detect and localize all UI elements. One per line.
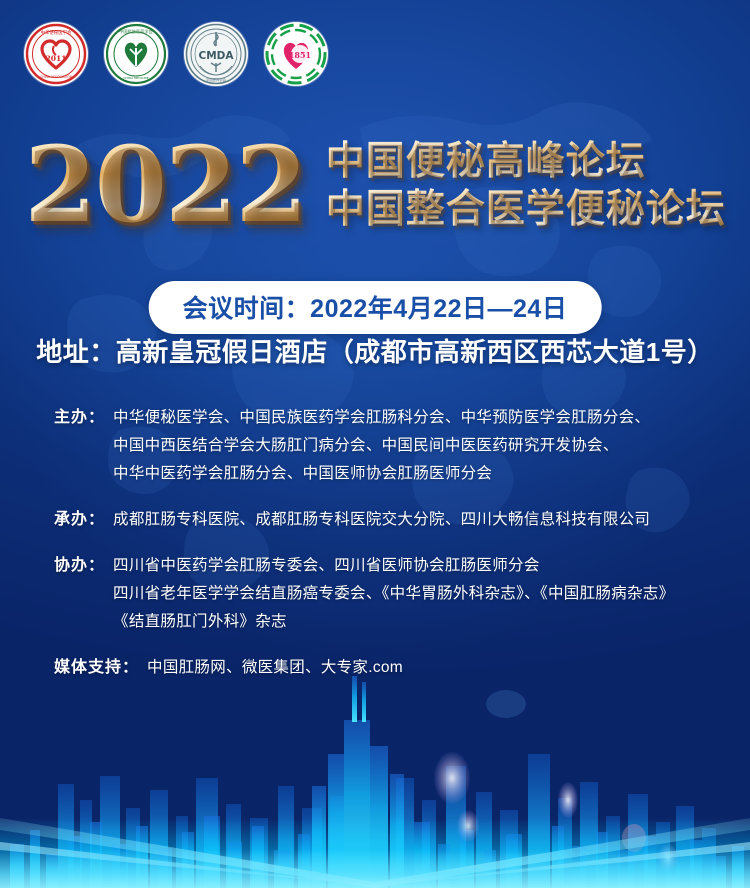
- svg-text:中华便秘医学会: 中华便秘医学会: [41, 29, 72, 36]
- credit-lines: 四川省中医药学会肛肠专委会、四川省医师协会肛肠医师分会 四川省老年医学学会结直肠…: [113, 552, 714, 636]
- credit-label: 媒体支持：: [54, 654, 139, 682]
- credit-label: 承办：: [54, 506, 105, 534]
- credit-line: 中华中医药学会肛肠分会、中国医师协会肛肠医师分会: [113, 460, 714, 488]
- credit-group-coorganizer: 协办： 四川省中医药学会肛肠专委会、四川省医师协会肛肠医师分会 四川省老年医学学…: [54, 552, 714, 636]
- credit-label: 协办：: [54, 552, 105, 580]
- credit-line: 四川省中医药学会肛肠专委会、四川省医师协会肛肠医师分会: [113, 552, 714, 580]
- credit-group-host: 主办： 中华便秘医学会、中国民族医药学会肛肠科分会、中华预防医学会肛肠分会、 中…: [54, 404, 714, 488]
- credits-block: 主办： 中华便秘医学会、中国民族医药学会肛肠科分会、中华预防医学会肛肠分会、 中…: [54, 404, 714, 700]
- credit-group-media: 媒体支持： 中国肛肠网、微医集团、大专家.com: [54, 654, 714, 682]
- title-year: 2022: [24, 135, 309, 235]
- svg-text:1851: 1851: [289, 50, 311, 60]
- conference-address: 地址：高新皇冠假日酒店（成都市高新西区西芯大道1号）: [0, 332, 750, 369]
- ground-light-glow: [0, 818, 750, 888]
- cmda-logo: CMDA 中国医师协会: [184, 22, 248, 86]
- conference-date-badge: 会议时间：2022年4月22日—24日: [149, 281, 602, 334]
- title-line-2: 中国整合医学便秘论坛: [326, 186, 726, 232]
- credit-line: 中国中西医结合学会大肠肛门病分会、中国民间中医医药研究开发协会、: [113, 432, 714, 460]
- credit-line: 中国肛肠网、微医集团、大专家.com: [147, 654, 714, 682]
- svg-text:中国医师协会: 中国医师协会: [206, 77, 227, 82]
- china-ethnic-medicine-association-logo: 中国民族医药学会 CHINA MEDICINE: [104, 22, 168, 86]
- organization-logos: 2011 中华便秘医学会 CHINA ASSOCIATION 中国民族医药学会 …: [24, 22, 328, 86]
- credit-label: 主办：: [54, 404, 105, 432]
- credit-line: 中华便秘医学会、中国民族医药学会肛肠科分会、中华预防医学会肛肠分会、: [113, 404, 714, 432]
- credit-line: 四川省老年医学学会结直肠癌专委会、《中华胃肠外科杂志》、《中国肛肠病杂志》: [113, 580, 714, 608]
- poster-title: 2022 中国便秘高峰论坛 中国整合医学便秘论坛: [0, 135, 750, 235]
- svg-text:2011: 2011: [46, 54, 67, 63]
- credit-lines: 中国肛肠网、微医集团、大专家.com: [147, 654, 714, 682]
- conference-poster: 2011 中华便秘医学会 CHINA ASSOCIATION 中国民族医药学会 …: [0, 0, 750, 888]
- credit-line: 《结直肠肛门外科》杂志: [113, 608, 714, 636]
- credit-line: 成都肛肠专科医院、成都肛肠专科医院交大分院、四川大畅信息科技有限公司: [113, 506, 714, 534]
- svg-text:中国民族医药学会: 中国民族医药学会: [119, 28, 153, 35]
- credit-lines: 中华便秘医学会、中国民族医药学会肛肠科分会、中华预防医学会肛肠分会、 中国中西医…: [113, 404, 714, 488]
- credit-lines: 成都肛肠专科医院、成都肛肠专科医院交大分院、四川大畅信息科技有限公司: [113, 506, 714, 534]
- svg-text:CMDA: CMDA: [199, 50, 235, 62]
- title-chinese-lines: 中国便秘高峰论坛 中国整合医学便秘论坛: [326, 138, 726, 232]
- china-constipation-medical-association-logo: 2011 中华便秘医学会 CHINA ASSOCIATION: [24, 22, 88, 86]
- credit-group-organizer: 承办： 成都肛肠专科医院、成都肛肠专科医院交大分院、四川大畅信息科技有限公司: [54, 506, 714, 534]
- svg-text:CHINA MEDICINE: CHINA MEDICINE: [123, 76, 148, 80]
- title-line-1: 中国便秘高峰论坛: [326, 138, 726, 184]
- svg-text:CHINA ASSOCIATION: CHINA ASSOCIATION: [40, 75, 72, 79]
- china-folk-tcm-association-logo: 1851: [264, 22, 328, 86]
